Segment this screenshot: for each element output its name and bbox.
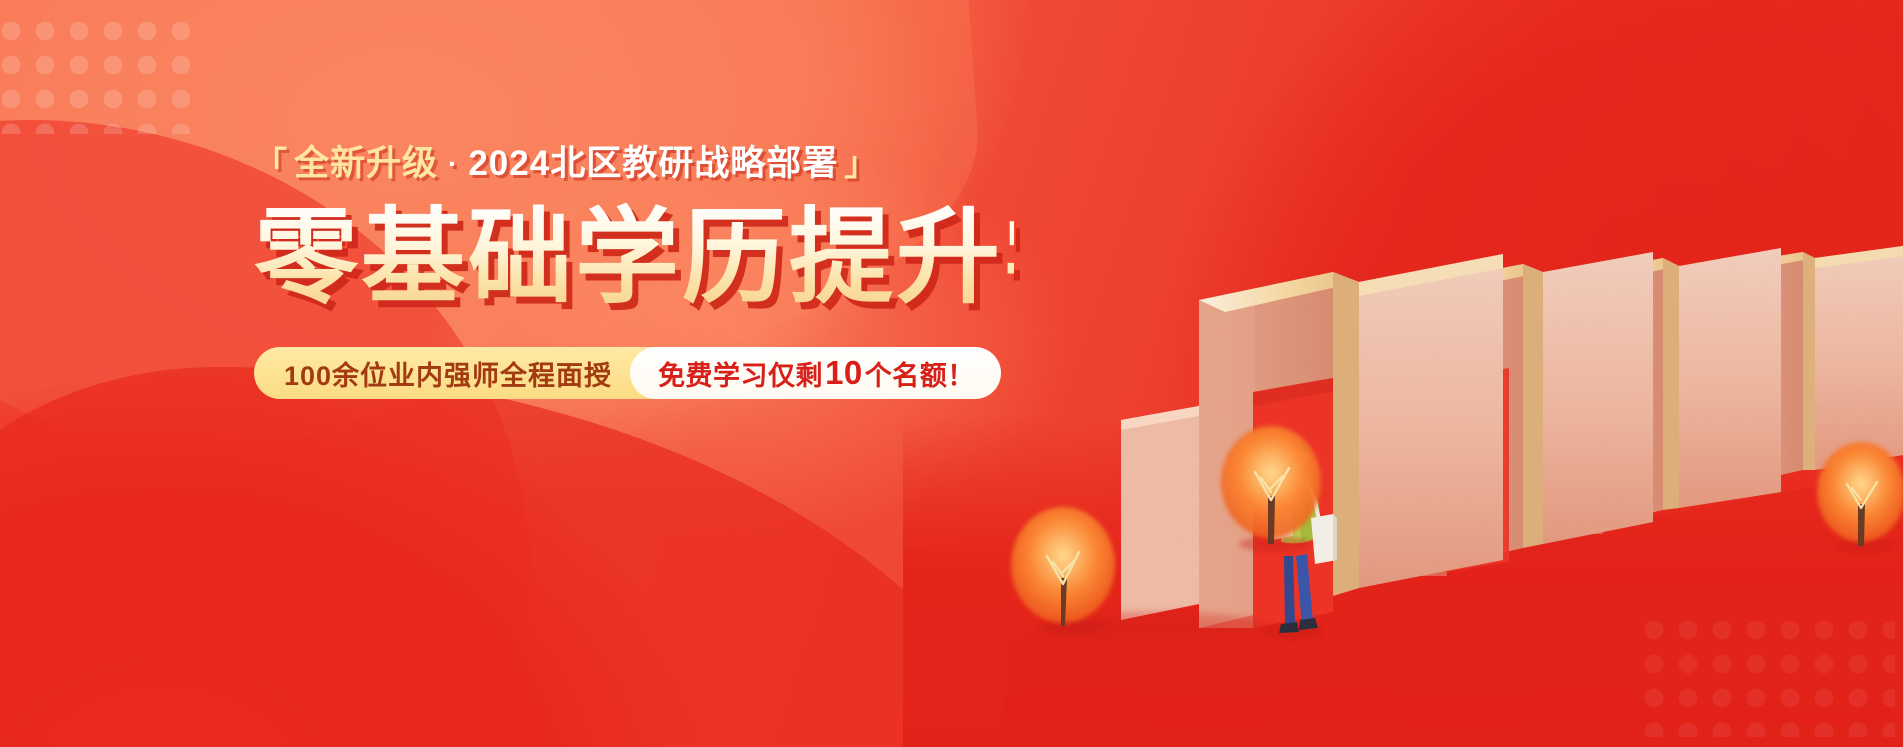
promo-banner: 「全新升级·2024北区教研战略部署」 零基础学历提升学霸班 100余位业内强师… [0, 0, 1903, 747]
pill-row: 100余位业内强师全程面授 免费学习仅剩10个名额！ [254, 347, 1014, 399]
pill-seats-number: 10 [823, 354, 865, 392]
pill-seats-prefix: 免费学习仅剩 [658, 354, 823, 393]
subtitle-highlight: 全新升级 [294, 146, 438, 181]
pill-seats-suffix: 个名额！ [865, 354, 975, 393]
copy-block: 「全新升级·2024北区教研战略部署」 零基础学历提升学霸班 100余位业内强师… [254, 146, 1014, 399]
subtitle-separator: · [444, 150, 462, 178]
illustration [1003, 0, 1903, 747]
pill-instructors-label: 100余位业内强师全程面授 [284, 354, 612, 393]
subtitle-open-bracket: 「 [254, 147, 288, 180]
subtitle-rest: 2024北区教研战略部署 [468, 146, 838, 181]
dot-pattern-top-left [0, 14, 190, 134]
pill-instructors: 100余位业内强师全程面授 [254, 347, 686, 399]
subtitle-close-bracket: 」 [844, 147, 878, 180]
headline: 零基础学历提升学霸班 [254, 203, 1014, 313]
subtitle: 「全新升级·2024北区教研战略部署」 [254, 146, 1014, 181]
pill-seats-remaining: 免费学习仅剩10个名额！ [630, 347, 1001, 399]
